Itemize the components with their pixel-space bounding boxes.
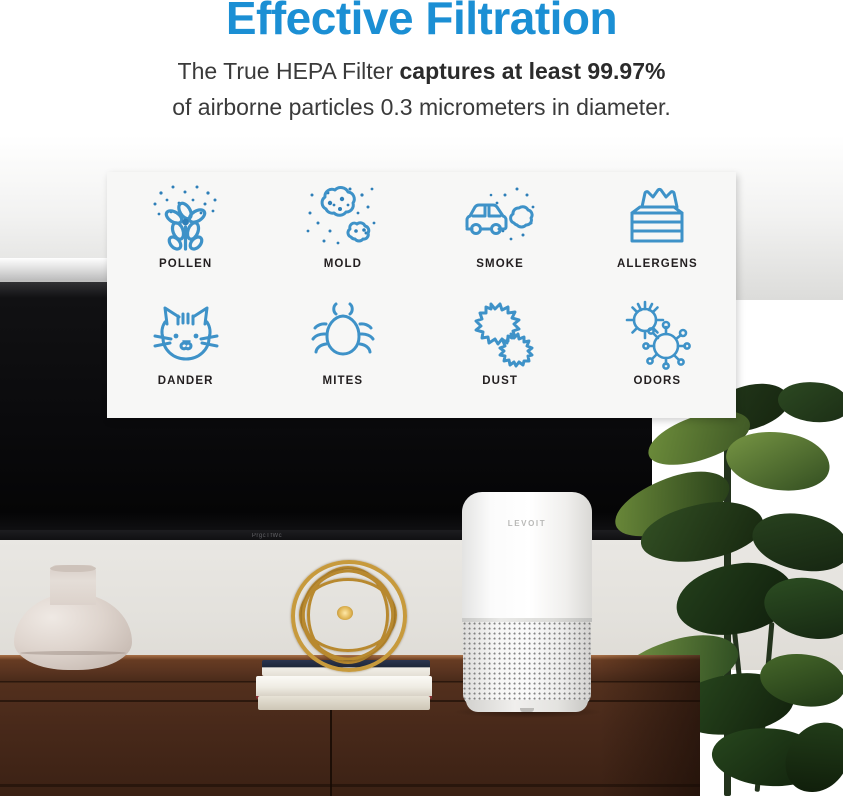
filtration-item-odors: ODORS: [579, 295, 736, 418]
vase-ring: [20, 651, 126, 655]
car-exhaust-smoke-icon: [460, 182, 540, 254]
filtration-item-allergens: ALLERGENS: [579, 172, 736, 295]
filtration-item-dust: DUST: [422, 295, 579, 418]
filtration-label: ODORS: [634, 375, 682, 387]
credenza-lower-line: [0, 784, 700, 787]
filtration-label: DUST: [482, 375, 518, 387]
subtitle-emphasis: captures at least 99.97%: [400, 58, 666, 84]
ceramic-vase: [14, 565, 132, 670]
dust-particle-icon: [460, 299, 540, 371]
germ-molecule-icon: [617, 299, 697, 371]
tissue-box-icon: [617, 182, 697, 254]
filtration-label: DANDER: [158, 375, 214, 387]
purifier-upper-body: [462, 492, 592, 620]
dust-mite-icon: [303, 299, 383, 371]
purifier-foot: [520, 708, 534, 712]
book-bottom: [258, 696, 430, 710]
filtration-item-mites: MITES: [264, 295, 421, 418]
credenza-drawer-divider: [330, 700, 332, 796]
subtitle-line-2: of airborne particles 0.3 micrometers in…: [0, 92, 843, 123]
subtitle-line-1: The True HEPA Filter captures at least 9…: [0, 56, 843, 87]
filtration-item-dander: DANDER: [107, 295, 264, 418]
filtration-panel: POLLEN: [107, 172, 736, 418]
filtration-label: MITES: [323, 375, 364, 387]
filtration-label: ALLERGENS: [617, 258, 698, 270]
cat-face-icon: [146, 299, 226, 371]
filtration-item-pollen: POLLEN: [107, 172, 264, 295]
television-logo: PrgcTfWc: [250, 532, 284, 540]
pollen-flower-icon: [146, 182, 226, 254]
air-purifier: LEVOIT: [462, 492, 592, 714]
purifier-grille: [463, 622, 591, 706]
subtitle-plain: The True HEPA Filter: [178, 58, 400, 84]
page-title: Effective Filtration: [0, 0, 843, 44]
mold-spores-icon: [303, 182, 383, 254]
product-marketing-image: PrgcTfWc: [0, 0, 843, 796]
vase-lip: [50, 565, 96, 572]
gold-orb-sculpture: [285, 560, 405, 668]
purifier-brand-label: LEVOIT: [462, 519, 592, 528]
filtration-item-mold: MOLD: [264, 172, 421, 295]
filtration-grid: POLLEN: [107, 172, 736, 418]
filtration-item-smoke: SMOKE: [422, 172, 579, 295]
filtration-label: MOLD: [324, 258, 362, 270]
credenza-shadow: [600, 655, 700, 796]
filtration-label: POLLEN: [159, 258, 212, 270]
orb-center: [337, 606, 353, 620]
filtration-label: SMOKE: [476, 258, 524, 270]
